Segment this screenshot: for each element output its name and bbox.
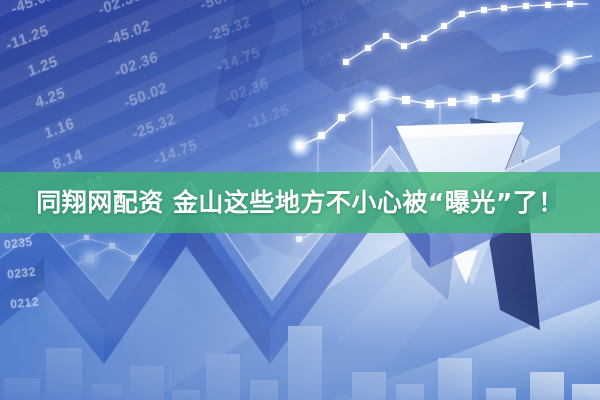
ticker-value: 0212 [10,294,40,311]
ticker-value: 0235 [3,235,33,252]
headline-text: 同翔网配资 金山这些地方不小心被“曝光”了！ [36,190,564,215]
ticker-value: 0232 [7,265,37,282]
headline-banner: 同翔网配资 金山这些地方不小心被“曝光”了！ [0,172,600,233]
banner-image: -02.36-11.25-50.0245.0221.16 -50.02-02.3… [0,0,600,400]
